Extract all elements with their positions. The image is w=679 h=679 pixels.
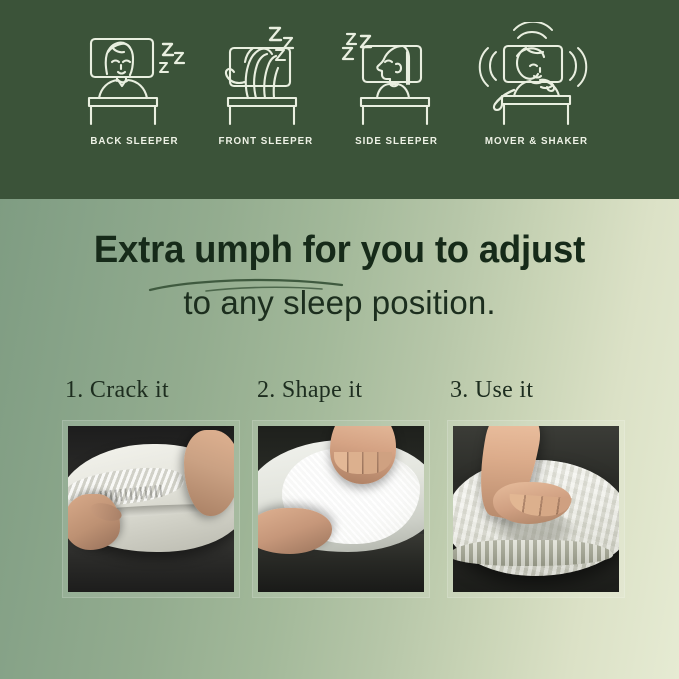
sleeper-item-label: FRONT SLEEPER bbox=[218, 135, 313, 147]
photo1-left-hand bbox=[68, 494, 120, 550]
sleeper-item-label: SIDE SLEEPER bbox=[355, 135, 438, 147]
step-label-2: 2. Shape it bbox=[257, 377, 362, 404]
step-photo-2 bbox=[258, 426, 424, 592]
step-photos-row bbox=[0, 420, 679, 605]
sleeper-item-front: FRONT SLEEPER bbox=[200, 0, 331, 147]
photo3-gusset bbox=[453, 540, 613, 566]
headline-block: Extra umph for you to adjust to any slee… bbox=[0, 226, 679, 324]
sleeper-item-label: MOVER & SHAKER bbox=[484, 135, 587, 147]
infographic-page: BACK SLEEPER bbox=[0, 0, 679, 679]
sleeper-item-label: BACK SLEEPER bbox=[90, 135, 178, 147]
step-label-1: 1. Crack it bbox=[65, 377, 169, 404]
side-sleeper-icon bbox=[339, 22, 455, 130]
back-sleeper-icon bbox=[77, 22, 193, 130]
sleeper-item-mover: MOVER & SHAKER bbox=[462, 0, 610, 147]
step-photo-frame-2 bbox=[252, 420, 430, 598]
step-labels-row: 1. Crack it 2. Shape it 3. Use it bbox=[65, 377, 617, 413]
steps-block: 1. Crack it 2. Shape it 3. Use it bbox=[65, 377, 617, 413]
mover-shaker-icon bbox=[470, 22, 602, 130]
headline-line-1: Extra umph for you to adjust bbox=[14, 226, 666, 274]
sleeper-item-back: BACK SLEEPER bbox=[69, 0, 200, 147]
sleeper-item-side: SIDE SLEEPER bbox=[331, 0, 462, 147]
step-photo-frame-3 bbox=[447, 420, 625, 598]
headline-line-2: to any sleep position. bbox=[0, 282, 679, 324]
step-photo-3 bbox=[453, 426, 619, 592]
front-sleeper-icon bbox=[208, 22, 324, 130]
step-label-3: 3. Use it bbox=[450, 377, 533, 404]
sleeper-types-row: BACK SLEEPER bbox=[0, 0, 679, 199]
step-photo-1 bbox=[68, 426, 234, 592]
step-photo-frame-1 bbox=[62, 420, 240, 598]
